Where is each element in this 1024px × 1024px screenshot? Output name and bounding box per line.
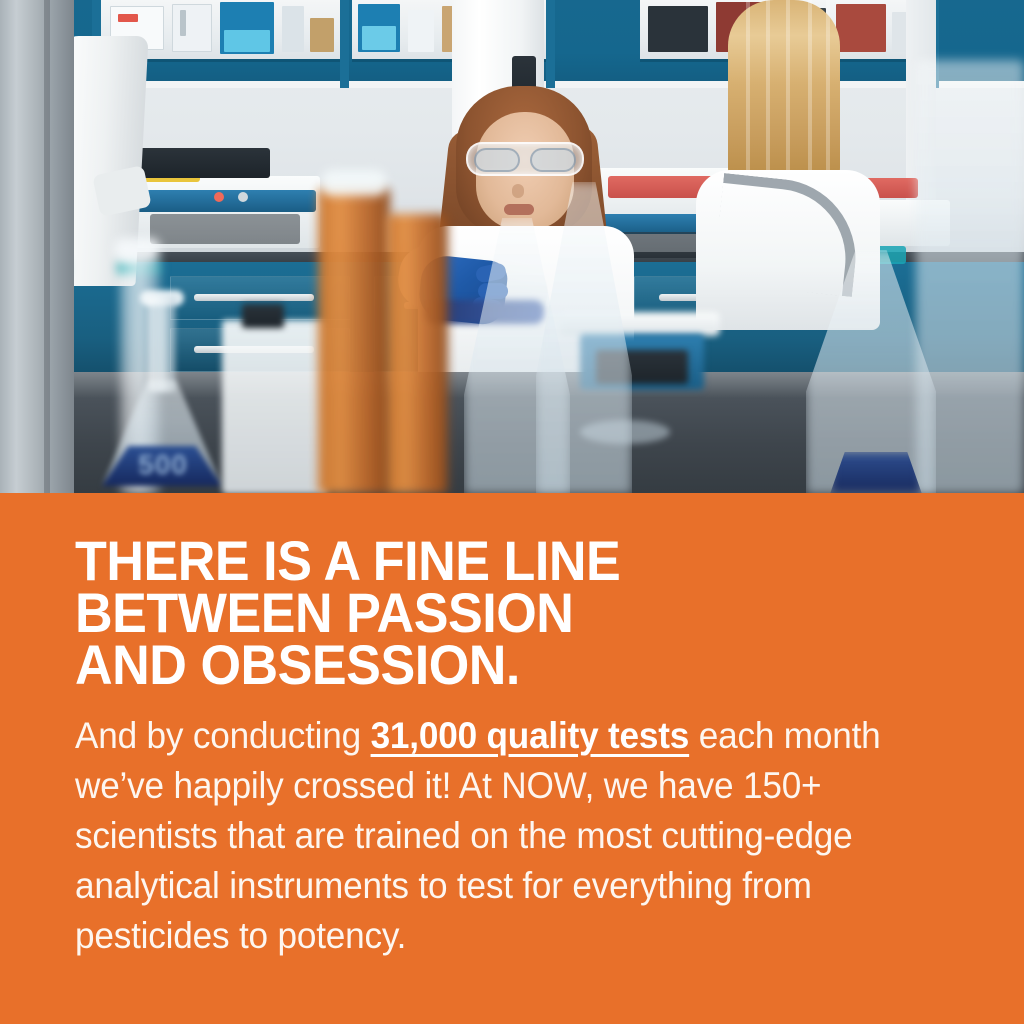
headline-line-2: BETWEEN PASSION bbox=[75, 587, 888, 639]
reagent-bottle-cap bbox=[242, 304, 284, 328]
blonde-hair bbox=[728, 0, 840, 198]
indicator-light-red bbox=[214, 192, 224, 202]
instrument-shadow bbox=[150, 214, 300, 244]
orange-text-panel: THERE IS A FINE LINE BETWEEN PASSION AND… bbox=[0, 493, 1024, 1024]
amber-cylinder-1 bbox=[318, 188, 390, 493]
scientist-mouth bbox=[504, 204, 534, 215]
left-post bbox=[0, 0, 74, 493]
instrument-panel-blue bbox=[134, 190, 316, 212]
cabinet-mullion-2 bbox=[546, 0, 555, 88]
tall-cylinder-right bbox=[916, 60, 1024, 493]
body-text-part1: And by conducting bbox=[75, 715, 371, 756]
lab-photo: 500 bbox=[0, 0, 1024, 493]
flask-right-liquid bbox=[830, 452, 922, 493]
goggle-lens-left bbox=[474, 148, 520, 172]
headline: THERE IS A FINE LINE BETWEEN PASSION AND… bbox=[75, 535, 888, 691]
reagent-bottle-center bbox=[222, 320, 328, 493]
flask-volume-label: 500 bbox=[120, 450, 206, 480]
goggle-lens-right bbox=[530, 148, 576, 172]
quality-tests-highlight: 31,000 quality tests bbox=[371, 715, 690, 756]
scientist-nose bbox=[512, 184, 524, 198]
amber-cylinder-2 bbox=[386, 214, 448, 493]
headline-line-3: AND OBSESSION. bbox=[75, 639, 888, 691]
amber-cylinder-cap bbox=[322, 170, 386, 196]
cabinet-mullion-1 bbox=[340, 0, 349, 88]
body-copy: And by conducting 31,000 quality tests e… bbox=[75, 711, 905, 961]
indicator-light-grey bbox=[238, 192, 248, 202]
volumetric-flask-500: 500 bbox=[96, 296, 228, 486]
headline-line-1: THERE IS A FINE LINE bbox=[75, 535, 888, 587]
safety-goggles bbox=[466, 142, 584, 176]
poster-root: 500 THERE IS A FINE LINE BETWEEN PASSION… bbox=[0, 0, 1024, 1024]
